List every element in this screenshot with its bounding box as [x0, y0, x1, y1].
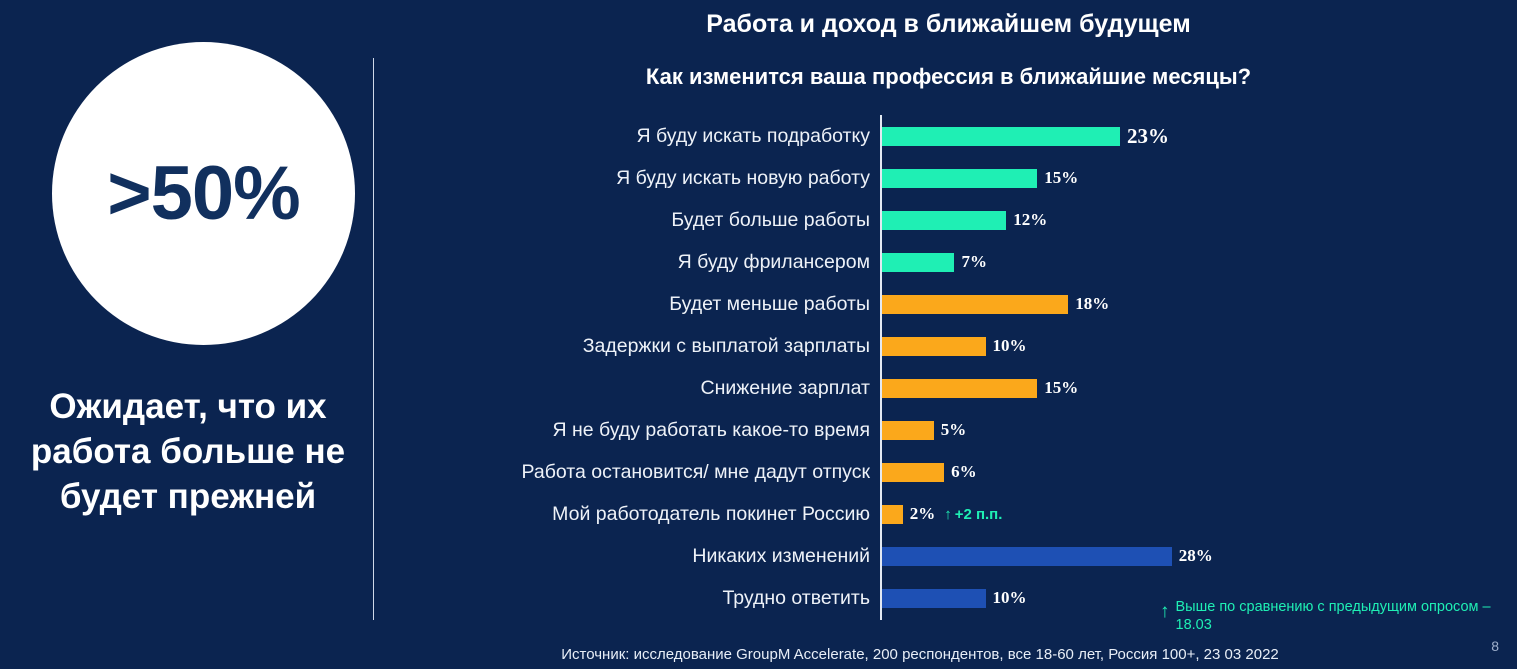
page-title: Работа и доход в ближайшем будущем [380, 10, 1517, 39]
left-caption-text: Ожидает, что их работа больше не будет п… [18, 385, 358, 519]
bar-label: Задержки с выплатой зарплаты [380, 325, 870, 367]
bar-label: Я не буду работать какое-то время [380, 409, 870, 451]
bar-row: Снижение зарплат15% [380, 367, 1517, 409]
bar-track: 12% [882, 199, 1047, 241]
bar-3 [882, 253, 954, 272]
stat-circle-value: >50% [107, 156, 300, 232]
bar-value-label: 2% [910, 504, 936, 524]
bar-track: 2%↑+2 п.п. [882, 493, 1002, 535]
bar-track: 7% [882, 241, 987, 283]
bar-delta-text: +2 п.п. [955, 506, 1003, 523]
bar-value-label: 23% [1127, 124, 1169, 149]
bar-track: 23% [882, 115, 1169, 157]
bar-0 [882, 127, 1120, 146]
bar-value-label: 10% [993, 588, 1027, 608]
bar-row: Я буду фрилансером7% [380, 241, 1517, 283]
bar-value-label: 12% [1013, 210, 1047, 230]
bar-value-label: 6% [951, 462, 977, 482]
bar-track: 28% [882, 535, 1213, 577]
vertical-divider [373, 58, 374, 620]
page-subtitle: Как изменится ваша профессия в ближайшие… [380, 64, 1517, 90]
bar-label: Трудно ответить [380, 577, 870, 619]
bar-8 [882, 463, 944, 482]
bar-track: 10% [882, 577, 1027, 619]
bar-1 [882, 169, 1037, 188]
bar-6 [882, 379, 1037, 398]
page-number: 8 [1491, 638, 1499, 654]
bar-row: Я буду искать подработку23% [380, 115, 1517, 157]
bar-label: Я буду фрилансером [380, 241, 870, 283]
bar-row: Никаких изменений28% [380, 535, 1517, 577]
bar-label: Будет больше работы [380, 199, 870, 241]
bar-value-label: 5% [941, 420, 967, 440]
bar-value-label: 15% [1044, 378, 1078, 398]
bar-7 [882, 421, 934, 440]
bar-label: Мой работодатель покинет Россию [380, 493, 870, 535]
legend-higher-than-previous: ↑ Выше по сравнению с предыдущим опросом… [1160, 598, 1500, 634]
up-arrow-icon: ↑ [944, 507, 952, 522]
legend-text: Выше по сравнению с предыдущим опросом –… [1176, 598, 1501, 634]
bar-value-label: 7% [961, 252, 987, 272]
bar-label: Работа остановится/ мне дадут отпуск [380, 451, 870, 493]
bar-label: Будет меньше работы [380, 283, 870, 325]
left-highlight-panel: >50% Ожидает, что их работа больше не бу… [0, 0, 373, 669]
bar-5 [882, 337, 986, 356]
bar-row: Будет меньше работы18% [380, 283, 1517, 325]
bar-row: Мой работодатель покинет Россию2%↑+2 п.п… [380, 493, 1517, 535]
bar-track: 18% [882, 283, 1109, 325]
bar-4 [882, 295, 1068, 314]
bar-label: Я буду искать новую работу [380, 157, 870, 199]
bar-label: Снижение зарплат [380, 367, 870, 409]
bar-track: 6% [882, 451, 977, 493]
up-arrow-icon: ↑ [1160, 602, 1170, 621]
bar-row: Я буду искать новую работу15% [380, 157, 1517, 199]
bar-value-label: 28% [1179, 546, 1213, 566]
bar-label: Никаких изменений [380, 535, 870, 577]
bar-label: Я буду искать подработку [380, 115, 870, 157]
bar-10 [882, 547, 1172, 566]
bar-track: 15% [882, 367, 1078, 409]
bar-2 [882, 211, 1006, 230]
bar-chart: Я буду искать подработку23%Я буду искать… [380, 110, 1517, 630]
bar-value-label: 10% [993, 336, 1027, 356]
bar-track: 10% [882, 325, 1027, 367]
bar-9 [882, 505, 903, 524]
bar-row: Задержки с выплатой зарплаты10% [380, 325, 1517, 367]
bar-row: Работа остановится/ мне дадут отпуск6% [380, 451, 1517, 493]
bar-track: 15% [882, 157, 1078, 199]
bar-row: Будет больше работы12% [380, 199, 1517, 241]
bar-delta-badge: ↑+2 п.п. [944, 506, 1002, 523]
bar-value-label: 15% [1044, 168, 1078, 188]
bar-track: 5% [882, 409, 966, 451]
source-note: Источник: исследование GroupM Accelerate… [380, 646, 1460, 663]
stat-circle: >50% [52, 42, 355, 345]
bar-row: Я не буду работать какое-то время5% [380, 409, 1517, 451]
bar-value-label: 18% [1075, 294, 1109, 314]
bar-11 [882, 589, 986, 608]
slide-root: >50% Ожидает, что их работа больше не бу… [0, 0, 1517, 669]
